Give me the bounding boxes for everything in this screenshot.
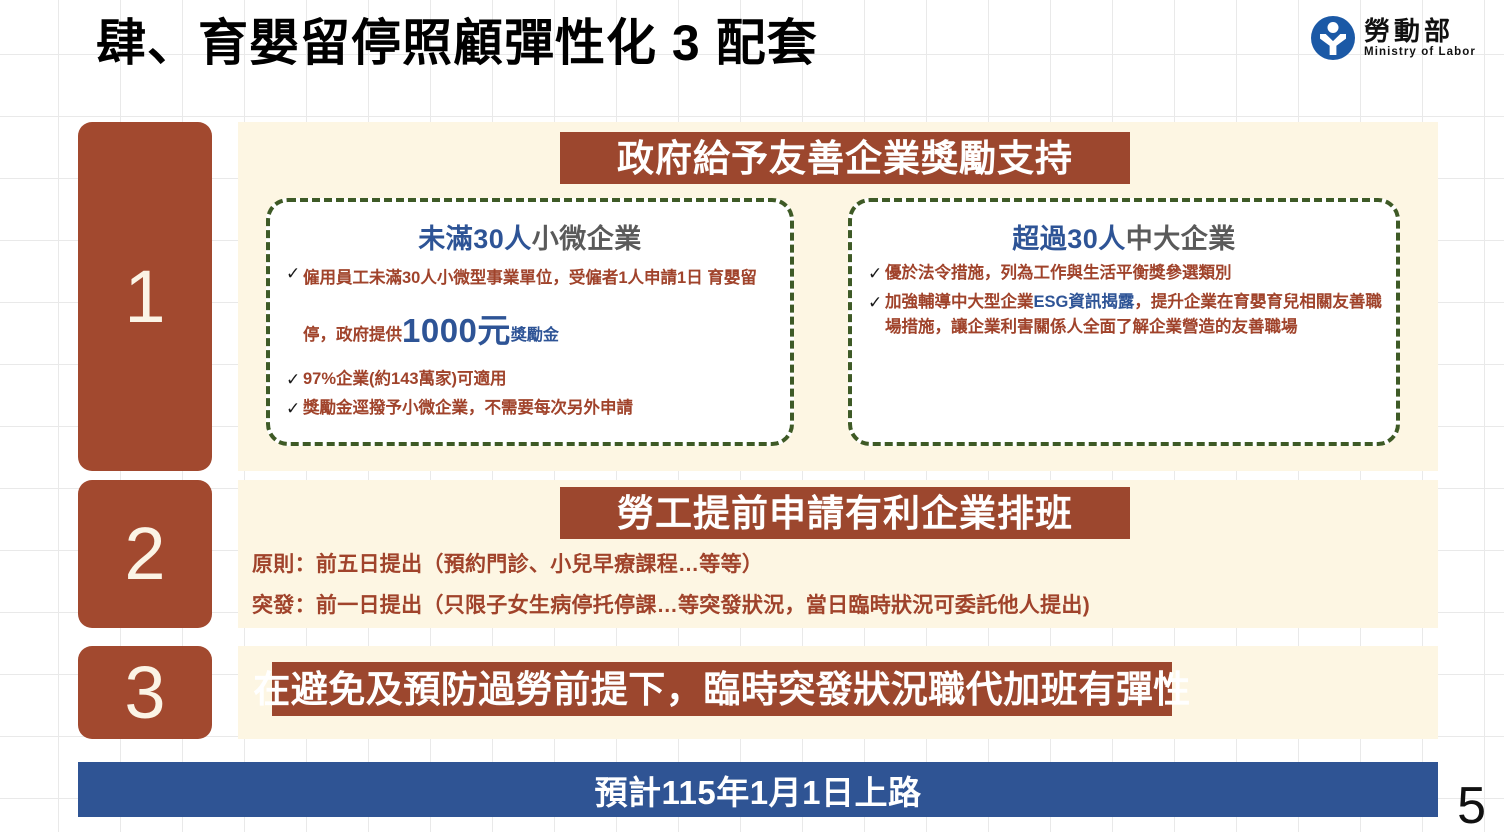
list-item-text: 加強輔導中大型企業ESG資訊揭露，提升企業在育嬰育兒相關友善職場措施，讓企業利害… <box>885 290 1384 341</box>
amount-label: 獎勵金 <box>511 327 559 344</box>
section-number-badge-1: 1 <box>78 122 212 471</box>
bullet-part-1: 加強輔導中大型企業 <box>885 293 1034 311</box>
esg-highlight: ESG資訊揭露 <box>1034 293 1135 311</box>
list-item-text: 97%企業(約143萬家)可適用 <box>303 367 778 393</box>
list-item-text: 僱用員工未滿30人小微型事業單位，受僱者1人申請1日 育嬰留停，政府提供1000… <box>303 261 778 365</box>
list-item: ✓ 優於法令措施，列為工作與生活平衡獎參選類別 <box>868 261 1384 287</box>
ministry-of-labor-emblem-icon <box>1311 16 1355 60</box>
card-large-enterprise: 超過30人中大企業 ✓ 優於法令措施，列為工作與生活平衡獎參選類別 ✓ 加強輔導… <box>848 198 1400 446</box>
section-number-badge-3: 3 <box>78 646 212 739</box>
card-small-enterprise: 未滿30人小微企業 ✓ 僱用員工未滿30人小微型事業單位，受僱者1人申請1日 育… <box>266 198 794 446</box>
card-left-heading-gray: 小微企業 <box>532 224 642 254</box>
section2-line-emergency: 突發：前一日提出（只限子女生病停托停課…等突發狀況，當日臨時狀況可委託他人提出) <box>252 589 1090 619</box>
logo-text: 勞動部 Ministry of Labor <box>1364 18 1476 59</box>
check-icon: ✓ <box>286 396 303 422</box>
bullet-part-1: 僱用員工未滿30人小微型事業單位，受僱者1人申請1日 <box>303 269 703 287</box>
check-icon: ✓ <box>868 290 885 316</box>
list-item: ✓ 獎勵金逕撥予小微企業，不需要每次另外申請 <box>286 396 778 422</box>
card-right-bullets: ✓ 優於法令措施，列為工作與生活平衡獎參選類別 ✓ 加強輔導中大型企業ESG資訊… <box>852 261 1396 340</box>
effective-date-bar: 預計115年1月1日上路 <box>78 762 1438 817</box>
logo-name-en: Ministry of Labor <box>1364 47 1476 59</box>
section-banner-2: 勞工提前申請有利企業排班 <box>560 487 1130 539</box>
section-banner-1: 政府給予友善企業獎勵支持 <box>560 132 1130 184</box>
list-item-text: 優於法令措施，列為工作與生活平衡獎參選類別 <box>885 261 1384 287</box>
list-item: ✓ 加強輔導中大型企業ESG資訊揭露，提升企業在育嬰育兒相關友善職場措施，讓企業… <box>868 290 1384 341</box>
amount-value: 1000元 <box>402 312 511 349</box>
card-right-heading-blue: 超過30人 <box>1012 224 1126 254</box>
check-icon: ✓ <box>868 261 885 287</box>
ministry-logo: 勞動部 Ministry of Labor <box>1311 16 1476 60</box>
page-number: 5 <box>1457 780 1486 832</box>
section-number-badge-2: 2 <box>78 480 212 628</box>
logo-name-cn: 勞動部 <box>1364 18 1476 44</box>
slide-canvas: 肆、育嬰留停照顧彈性化 3 配套 勞動部 Ministry of Labor 1… <box>0 0 1504 832</box>
page-title: 肆、育嬰留停照顧彈性化 3 配套 <box>96 12 818 75</box>
section2-line-principle: 原則：前五日提出（預約門診、小兒早療課程…等等） <box>252 548 763 578</box>
check-icon: ✓ <box>286 261 303 287</box>
card-left-bullets: ✓ 僱用員工未滿30人小微型事業單位，受僱者1人申請1日 育嬰留停，政府提供10… <box>270 261 790 422</box>
list-item: ✓ 97%企業(約143萬家)可適用 <box>286 367 778 393</box>
card-right-heading: 超過30人中大企業 <box>852 223 1396 255</box>
card-left-heading-blue: 未滿30人 <box>418 224 532 254</box>
list-item-text: 獎勵金逕撥予小微企業，不需要每次另外申請 <box>303 396 778 422</box>
section-banner-3: 在避免及預防過勞前提下，臨時突發狀況職代加班有彈性 <box>272 662 1172 716</box>
list-item: ✓ 僱用員工未滿30人小微型事業單位，受僱者1人申請1日 育嬰留停，政府提供10… <box>286 261 778 365</box>
card-left-heading: 未滿30人小微企業 <box>270 223 790 255</box>
card-right-heading-gray: 中大企業 <box>1126 224 1236 254</box>
check-icon: ✓ <box>286 367 303 393</box>
